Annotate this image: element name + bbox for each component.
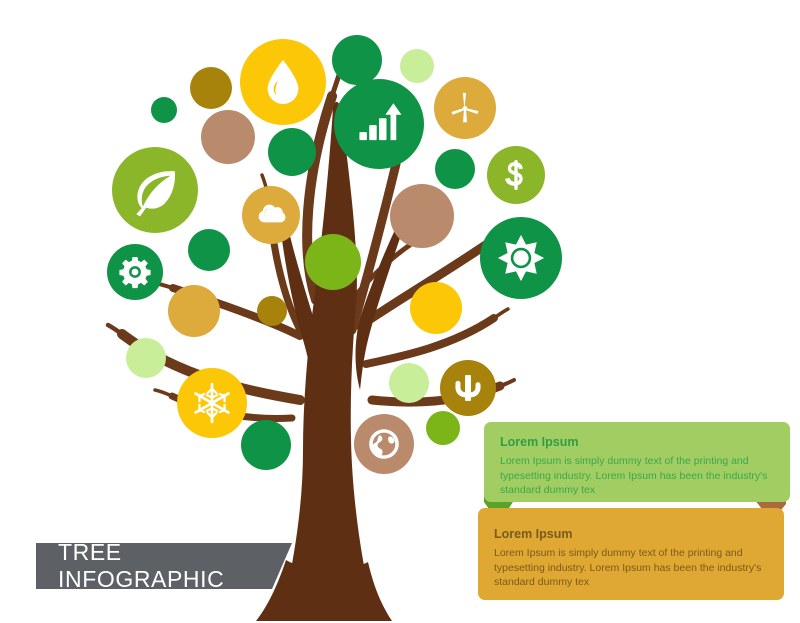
circle-plain-6[interactable] — [268, 128, 316, 176]
circle-globe-disc — [354, 414, 414, 474]
circle-plain-16[interactable] — [426, 411, 460, 445]
circle-plain-15[interactable] — [389, 363, 429, 403]
circle-plain-4-disc — [151, 97, 177, 123]
circle-globe[interactable] — [354, 414, 414, 474]
circle-plain-1-disc — [332, 35, 382, 85]
green-callout-heading: Lorem Ipsum — [500, 435, 774, 451]
circle-snowflake[interactable] — [177, 368, 247, 438]
circle-plain-17-disc — [241, 420, 291, 470]
circle-plain-9[interactable] — [188, 229, 230, 271]
circle-cactus[interactable] — [440, 360, 496, 416]
circle-plain-7-disc — [435, 149, 475, 189]
gold-callout-heading: Lorem Ipsum — [494, 527, 768, 543]
circle-plain-2-disc — [400, 49, 434, 83]
circle-plain-11[interactable] — [168, 285, 220, 337]
circle-plain-13[interactable] — [410, 282, 462, 334]
circle-dollar-sign[interactable] — [487, 146, 545, 204]
circle-plain-5-disc — [201, 110, 255, 164]
gold-callout-body: Lorem Ipsum is simply dummy text of the … — [494, 546, 768, 591]
circle-plain-12-disc — [257, 296, 287, 326]
circle-plain-12[interactable] — [257, 296, 287, 326]
circle-plain-13-disc — [410, 282, 462, 334]
circle-gear[interactable] — [107, 244, 163, 300]
circle-plain-10-disc — [305, 234, 361, 290]
circle-plain-8[interactable] — [390, 184, 454, 248]
gold-callout-panel[interactable]: Lorem Ipsum Lorem Ipsum is simply dummy … — [478, 508, 784, 600]
circle-plain-2[interactable] — [400, 49, 434, 83]
circle-growth-chart[interactable] — [334, 79, 424, 169]
circle-water-drop[interactable] — [240, 39, 326, 125]
circle-plain-11-disc — [168, 285, 220, 337]
circle-leaf[interactable] — [112, 147, 198, 233]
circle-growth-chart-disc — [334, 79, 424, 169]
circle-wind-turbine[interactable] — [434, 77, 496, 139]
circle-plain-16-disc — [426, 411, 460, 445]
circle-plain-1[interactable] — [332, 35, 382, 85]
circle-plain-10[interactable] — [305, 234, 361, 290]
infographic-canvas: Lorem Ipsum Lorem Ipsum is simply dummy … — [0, 0, 800, 623]
page-title: TREE INFOGRAPHIC — [36, 543, 284, 589]
circle-plain-4[interactable] — [151, 97, 177, 123]
circle-plain-15-disc — [389, 363, 429, 403]
circle-plain-7[interactable] — [435, 149, 475, 189]
circle-plain-17[interactable] — [241, 420, 291, 470]
circle-plain-9-disc — [188, 229, 230, 271]
circle-plain-14[interactable] — [126, 338, 166, 378]
circle-plain-3-disc — [190, 67, 232, 109]
circle-cloud[interactable] — [242, 186, 300, 244]
circle-plain-5[interactable] — [201, 110, 255, 164]
green-callout-panel[interactable]: Lorem Ipsum Lorem Ipsum is simply dummy … — [484, 422, 790, 502]
green-callout-body: Lorem Ipsum is simply dummy text of the … — [500, 454, 774, 499]
circle-plain-6-disc — [268, 128, 316, 176]
circle-sun[interactable] — [480, 217, 562, 299]
circle-plain-8-disc — [390, 184, 454, 248]
circle-plain-3[interactable] — [190, 67, 232, 109]
gear-icon — [119, 257, 150, 288]
circle-plain-14-disc — [126, 338, 166, 378]
